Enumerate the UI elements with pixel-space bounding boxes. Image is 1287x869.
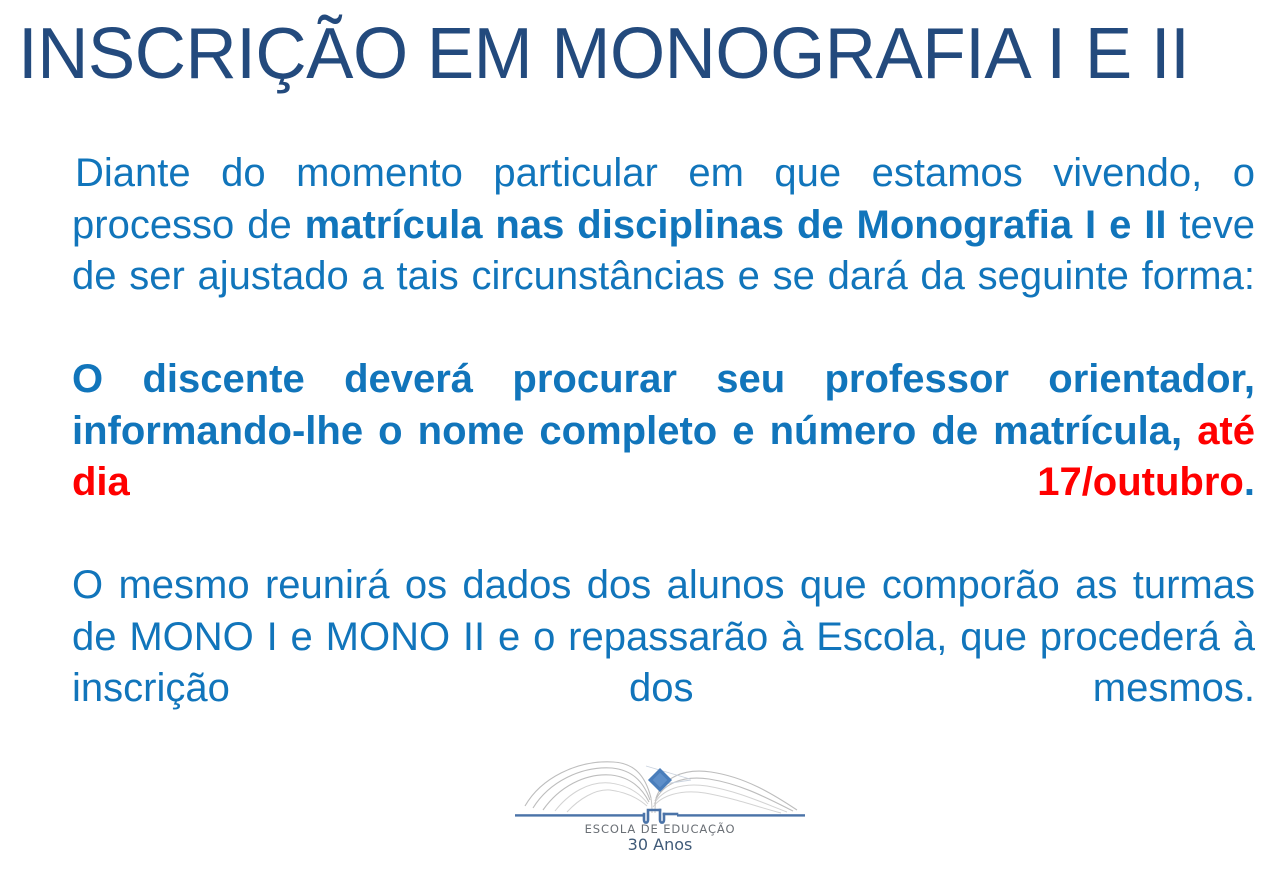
page-title: INSCRIÇÃO EM MONOGRAFIA I E II [18,10,1250,102]
paragraph-2-period: . [1244,460,1255,504]
paragraph-2: O discente deverá procurar seu professor… [72,354,1255,560]
paragraph-1-bold: matrícula nas disciplinas de Monografia … [305,203,1167,247]
slide-canvas: INSCRIÇÃO EM MONOGRAFIA I E II Diante do… [0,0,1287,869]
paragraph-3: O mesmo reunirá os dados dos alunos que … [72,560,1255,766]
paragraph-3-text: O mesmo reunirá os dados dos alunos que … [72,563,1255,710]
logo-line-2: 30 Anos [505,836,815,854]
logo-line-1: ESCOLA DE EDUCAÇÃO [505,822,815,836]
escola-de-educacao-logo: ESCOLA DE EDUCAÇÃO 30 Anos [505,752,815,864]
slide-body: Diante do momento particular em que esta… [72,148,1255,766]
open-book-icon [505,752,815,824]
logo-caption: ESCOLA DE EDUCAÇÃO 30 Anos [505,822,815,854]
paragraph-2-bold: O discente deverá procurar seu professor… [72,357,1255,453]
paragraph-1: Diante do momento particular em que esta… [72,148,1255,354]
